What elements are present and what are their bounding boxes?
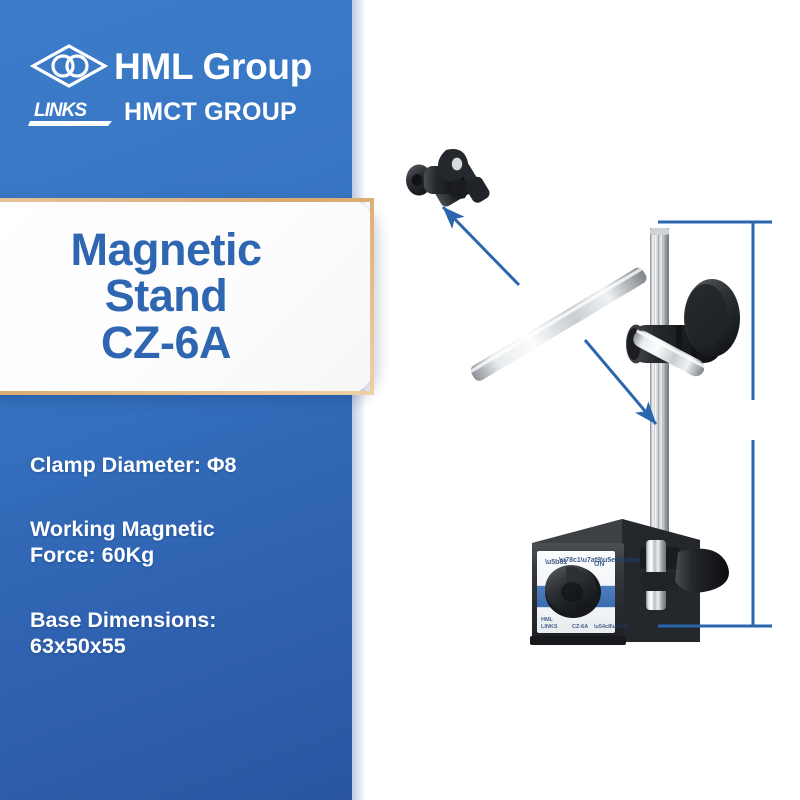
- magnetic-stand-illustration: \u5b81 \u78c1\u7af9\u5e95\u5ea7 ON HML L…: [0, 0, 800, 800]
- svg-text:\u54c8\u91cf: \u54c8\u91cf: [594, 624, 627, 630]
- dimension-leader-200mm: [443, 207, 656, 424]
- base-model-text: CZ-6A: [572, 624, 588, 630]
- svg-text:HML: HML: [541, 617, 554, 623]
- product-photo: \u5b81 \u78c1\u7af9\u5e95\u5ea7 ON HML L…: [352, 0, 800, 800]
- product-banner: HML Group LINKS HMCT GROUP Magnetic Stan…: [0, 0, 800, 800]
- svg-text:LINKS: LINKS: [541, 624, 558, 630]
- svg-text:ON: ON: [594, 561, 605, 568]
